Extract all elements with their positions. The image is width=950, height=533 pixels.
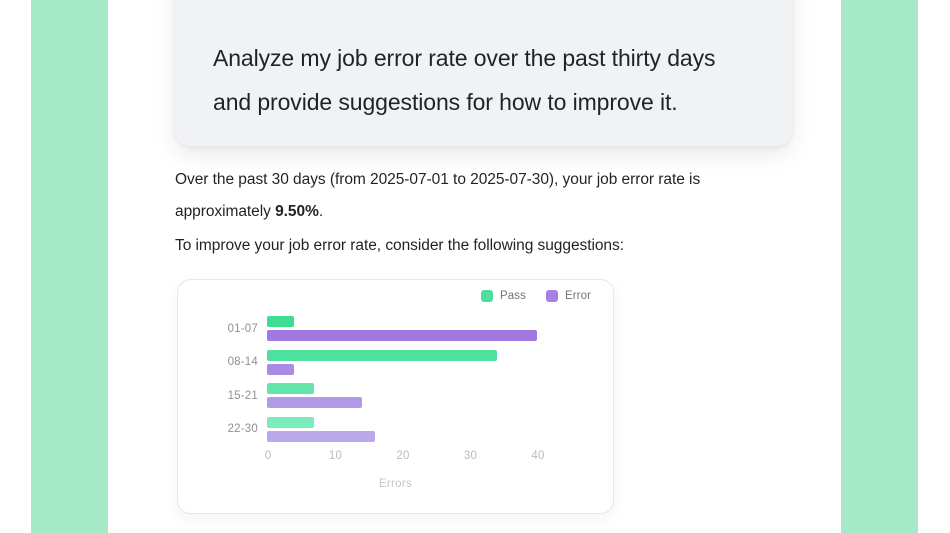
- chart-row: 22-30: [178, 413, 613, 447]
- chart-bar-group: [267, 413, 613, 447]
- answer-paragraph: Over the past 30 days (from 2025-07-01 t…: [175, 164, 775, 228]
- chart-category-label: 15-21: [178, 390, 258, 402]
- chart-category-label: 01-07: [178, 323, 258, 335]
- chart-bar-error[interactable]: [267, 431, 375, 442]
- chart-bar-group: [267, 312, 613, 346]
- chart-bar-group: [267, 379, 613, 413]
- assistant-answer: Over the past 30 days (from 2025-07-01 t…: [175, 164, 775, 262]
- chart-bar-group: [267, 346, 613, 380]
- chart-bar-pass[interactable]: [267, 316, 294, 327]
- chart-x-tick: 30: [464, 450, 477, 462]
- page-root: Analyze my job error rate over the past …: [0, 0, 950, 533]
- answer-paragraph: To improve your job error rate, consider…: [175, 230, 775, 262]
- chart-bar-pass[interactable]: [267, 350, 497, 361]
- chart-legend: PassError: [481, 290, 591, 302]
- chart-bar-error[interactable]: [267, 330, 537, 341]
- chart-category-label: 08-14: [178, 356, 258, 368]
- chart-bar-pass[interactable]: [267, 383, 314, 394]
- answer-text: .: [319, 203, 323, 220]
- error-rate-chart-card[interactable]: PassError 01-0708-1415-2122-30 010203040…: [177, 279, 614, 514]
- decorative-band-right: [841, 0, 918, 533]
- legend-label: Error: [565, 290, 591, 302]
- legend-item-pass[interactable]: Pass: [481, 290, 526, 302]
- chart-row: 15-21: [178, 379, 613, 413]
- chart-bar-error[interactable]: [267, 364, 294, 375]
- chart-bar-pass[interactable]: [267, 417, 314, 428]
- chart-x-tick: 40: [531, 450, 544, 462]
- chart-bar-rows: 01-0708-1415-2122-30: [178, 312, 613, 446]
- chart-x-tick: 20: [396, 450, 409, 462]
- answer-text: To improve your job error rate, consider…: [175, 237, 624, 254]
- chart-category-label: 22-30: [178, 423, 258, 435]
- content-column: Analyze my job error rate over the past …: [108, 0, 841, 533]
- chart-x-tick: 10: [329, 450, 342, 462]
- chart-x-axis: 010203040: [267, 450, 613, 470]
- answer-text: Over the past 30 days (from 2025-07-01 t…: [175, 171, 700, 220]
- chart-row: 01-07: [178, 312, 613, 346]
- chart-x-tick: 0: [265, 450, 272, 462]
- legend-swatch-icon: [481, 290, 493, 302]
- decorative-band-left: [31, 0, 108, 533]
- user-prompt-bubble: Analyze my job error rate over the past …: [175, 0, 792, 146]
- legend-item-error[interactable]: Error: [546, 290, 591, 302]
- error-rate-value: 9.50%: [275, 203, 319, 220]
- chart-row: 08-14: [178, 346, 613, 380]
- legend-label: Pass: [500, 290, 526, 302]
- legend-swatch-icon: [546, 290, 558, 302]
- chart-plot-area: 01-0708-1415-2122-30 010203040 Errors: [178, 310, 613, 513]
- user-prompt-text: Analyze my job error rate over the past …: [213, 36, 754, 146]
- chart-bar-error[interactable]: [267, 397, 362, 408]
- chart-x-axis-label: Errors: [178, 478, 613, 490]
